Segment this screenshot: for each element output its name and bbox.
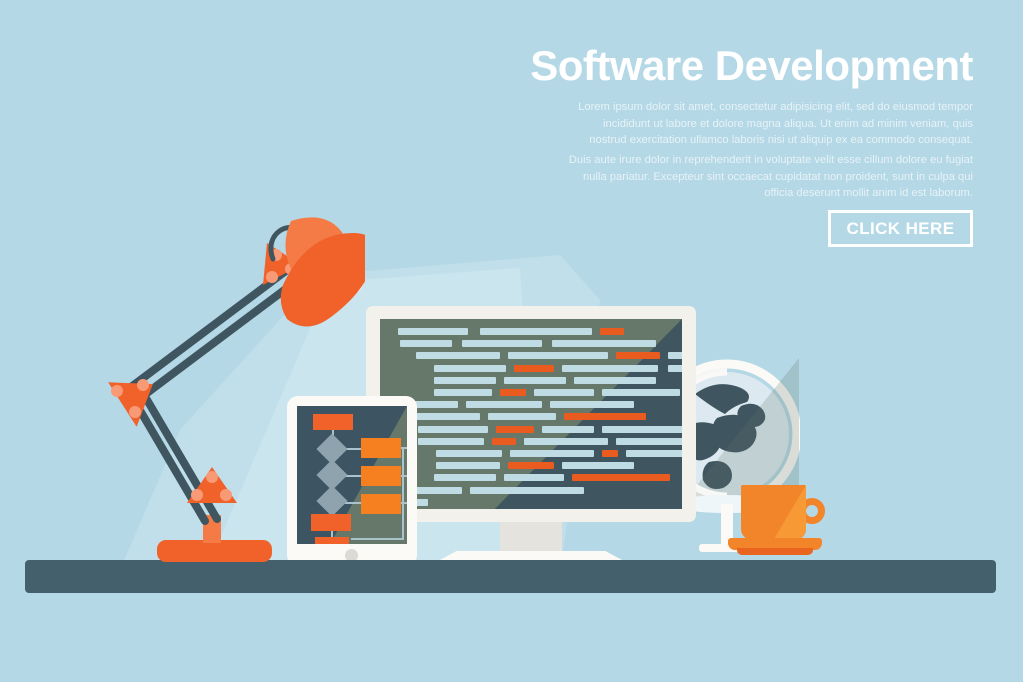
code-line-segment xyxy=(600,328,624,335)
code-line-segment xyxy=(470,487,584,494)
code-line-segment xyxy=(514,365,554,372)
code-line-segment xyxy=(602,426,682,433)
code-line-segment xyxy=(434,389,492,396)
code-line-segment xyxy=(398,328,468,335)
code-line-segment xyxy=(534,389,594,396)
monitor-screen xyxy=(380,319,682,509)
code-line-segment xyxy=(434,365,506,372)
code-line-segment xyxy=(462,340,542,347)
hero-paragraph-1: Lorem ipsum dolor sit amet, consectetur … xyxy=(563,99,973,149)
code-line-segment xyxy=(434,377,496,384)
code-line-segment xyxy=(436,450,502,457)
code-line-segment xyxy=(626,450,682,457)
code-line-segment xyxy=(504,377,566,384)
code-line-segment xyxy=(564,413,646,420)
code-line-segment xyxy=(616,438,682,445)
code-line-segment xyxy=(602,389,680,396)
cup-saucer-shadow xyxy=(737,548,813,555)
hero-paragraph-2: Duis aute irure dolor in reprehenderit i… xyxy=(563,152,973,202)
code-line-segment xyxy=(496,426,534,433)
desk-lamp xyxy=(95,215,365,575)
flowchart-process-node xyxy=(361,438,401,458)
code-line-segment xyxy=(602,450,618,457)
code-line-segment xyxy=(504,474,564,481)
code-line-segment xyxy=(524,438,608,445)
code-line-segment xyxy=(400,340,452,347)
flowchart-process-node xyxy=(361,494,401,514)
code-line-segment xyxy=(508,462,554,469)
code-line-segment xyxy=(510,450,594,457)
code-line-segment xyxy=(574,377,656,384)
code-line-segment xyxy=(466,401,542,408)
monitor-neck xyxy=(500,522,562,555)
code-line-segment xyxy=(508,352,608,359)
code-line-segment xyxy=(480,328,592,335)
code-line-segment xyxy=(552,340,656,347)
illustration-canvas: Software Development Lorem ipsum dolor s… xyxy=(0,0,1023,682)
code-line-segment xyxy=(562,365,658,372)
code-line-segment xyxy=(418,426,488,433)
code-line-segment xyxy=(542,426,594,433)
code-line-segment xyxy=(500,389,526,396)
code-line-segment xyxy=(550,401,634,408)
code-line-segment xyxy=(562,462,634,469)
code-line-segment xyxy=(668,365,682,372)
code-line-segment xyxy=(492,438,516,445)
code-line-segment xyxy=(434,474,496,481)
code-line-segment xyxy=(418,438,484,445)
click-here-button[interactable]: CLICK HERE xyxy=(828,210,973,247)
flowchart-process-node xyxy=(361,466,401,486)
page-title: Software Development xyxy=(530,44,973,88)
code-line-segment xyxy=(436,462,500,469)
code-line-segment xyxy=(668,352,682,359)
code-line-segment xyxy=(616,352,660,359)
code-line-segment xyxy=(572,474,670,481)
coffee-cup xyxy=(725,480,845,565)
code-line-segment xyxy=(416,352,500,359)
code-line-segment xyxy=(488,413,556,420)
